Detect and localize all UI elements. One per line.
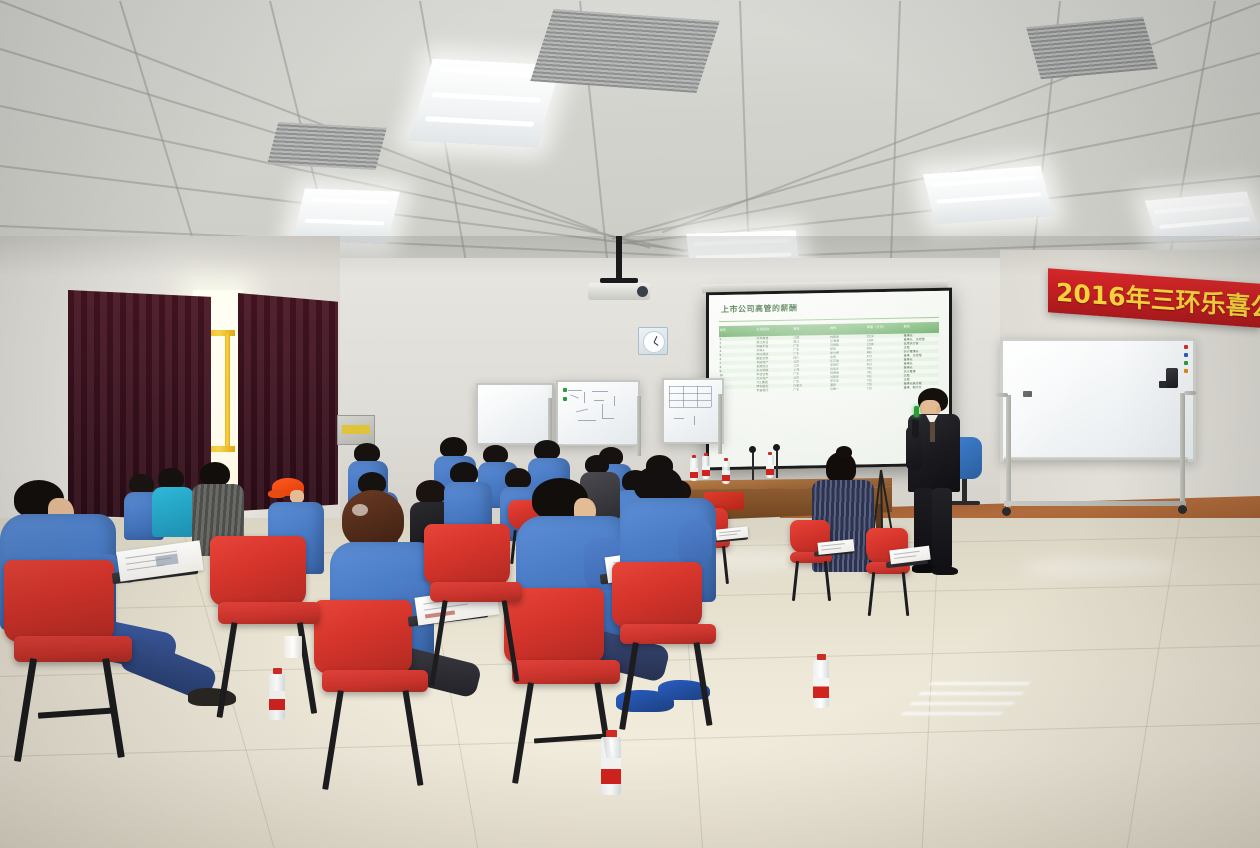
col-header: 省份 (792, 324, 829, 335)
whiteboard-stand-leg (718, 394, 722, 454)
hvac-vent (267, 122, 387, 170)
presenter-tie (930, 422, 935, 442)
slide-table-cell: 713 (866, 385, 903, 390)
whiteboard-pen-tray (1004, 457, 1188, 462)
wall-clock (638, 327, 668, 355)
ceiling-light-panel (1145, 191, 1260, 242)
projector-lens (637, 286, 648, 297)
whiteboard-left[interactable] (476, 383, 554, 445)
col-header: 职务 (903, 322, 940, 333)
whiteboard-frame-base (1004, 501, 1186, 506)
paper-cup[interactable] (284, 636, 302, 658)
whiteboard-stand-leg (637, 396, 641, 456)
whiteboard-pivot-knob[interactable] (1184, 391, 1196, 395)
water-bottle[interactable] (702, 453, 710, 479)
laser-pointer[interactable] (914, 406, 919, 417)
slide-table-cell: 14 (719, 388, 756, 393)
hvac-vent (530, 9, 720, 93)
whiteboard-center[interactable] (556, 380, 640, 446)
microphone-head (773, 444, 780, 451)
electrical-panel-label (342, 425, 370, 434)
col-header: 公司名称 (755, 325, 792, 336)
col-header: 姓名 (829, 323, 866, 334)
water-bottle-floor[interactable] (268, 668, 286, 720)
ceiling-light-reflection (892, 678, 1057, 730)
projector-mount (616, 236, 622, 284)
slide-title-underline (719, 317, 940, 322)
ponytail-tie (352, 504, 368, 516)
microphone[interactable] (912, 418, 919, 438)
microphone-stand (776, 448, 778, 478)
slide-table-cell: 广东 (792, 387, 829, 392)
water-bottle-floor[interactable] (600, 730, 622, 796)
training-room-photo: 2016年三环乐喜公司员 上市公司高管的薪酬 排名 公司名称 省份 姓名 年薪（… (0, 0, 1260, 848)
orange-cap-brim (268, 490, 286, 498)
attendee-shoe (188, 688, 236, 706)
wall-speaker (1166, 368, 1178, 388)
presenter-shoe (932, 566, 958, 575)
water-bottle[interactable] (690, 455, 698, 481)
slide-title: 上市公司高管的薪酬 (721, 302, 798, 314)
microphone-stand (752, 450, 754, 480)
electrical-panel[interactable] (337, 415, 375, 445)
slide-table-body: 1万丰奥特江西林国武2019董事长2浙江东日浙江汪海潮1485董事长、总经理3中… (719, 333, 940, 393)
whiteboard-caster (1178, 505, 1187, 514)
water-bottle[interactable] (722, 458, 730, 484)
water-bottle[interactable] (766, 452, 774, 478)
slide-table-cell: 平安银行 (755, 387, 792, 392)
hair-bun (836, 446, 852, 458)
whiteboard-frame-right (1180, 393, 1185, 505)
window-frame (225, 334, 230, 449)
col-header: 排名 (719, 325, 756, 336)
col-header: 年薪（万元） (866, 323, 903, 334)
ponytail-hair (342, 490, 404, 548)
microphone-head (749, 446, 756, 453)
hvac-vent (1026, 17, 1158, 79)
slide-table-cell: 孙建一 (829, 386, 866, 391)
whiteboard-pivot-knob[interactable] (996, 393, 1008, 397)
mobile-whiteboard-right[interactable] (992, 335, 1204, 535)
water-bottle-floor[interactable] (812, 654, 830, 708)
whiteboard-caster (1002, 507, 1011, 516)
whiteboard-frame-left (1006, 395, 1011, 507)
presenter-leg (932, 488, 952, 570)
ceiling-light-panel (923, 166, 1053, 224)
whiteboard-right[interactable] (662, 378, 724, 444)
ceiling-projector (588, 283, 650, 300)
